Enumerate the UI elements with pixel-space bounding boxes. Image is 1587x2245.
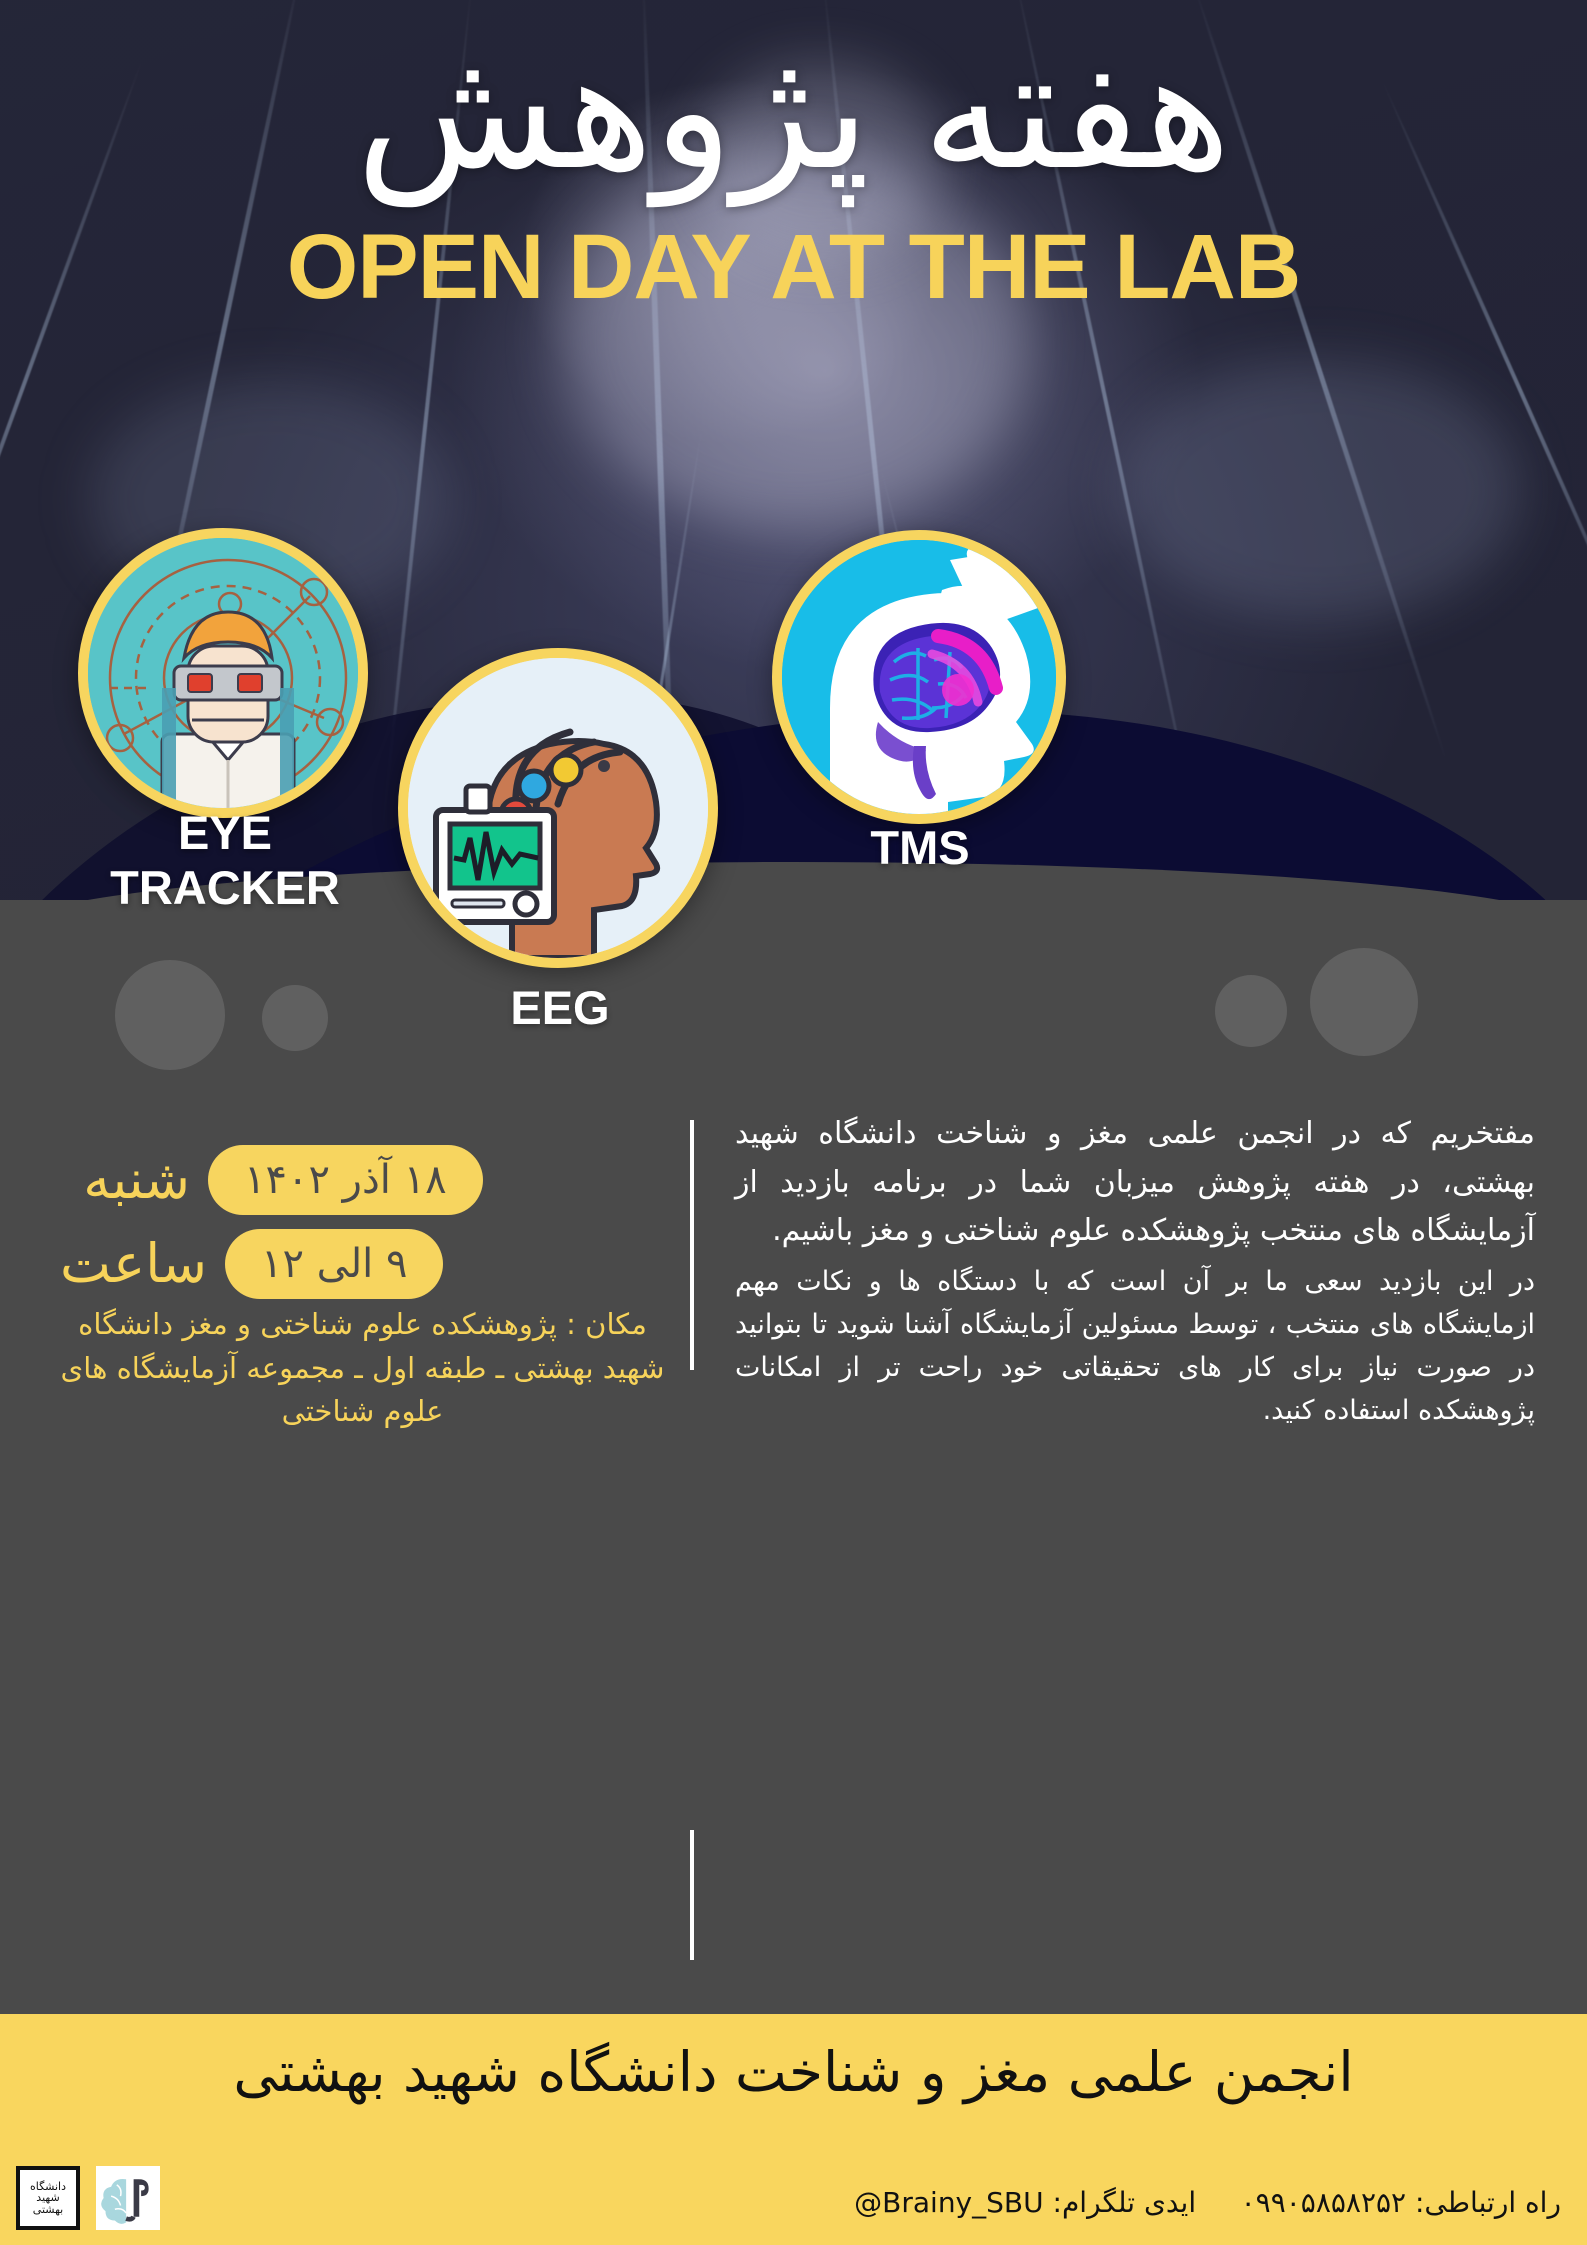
logo-brainy-sbu <box>96 2166 160 2230</box>
modality-circle-eye-tracker <box>78 528 368 818</box>
vertical-divider-top <box>690 1120 694 1370</box>
bokeh-circle <box>1215 975 1287 1047</box>
contact-phone: ۰۹۹۰۵۸۵۸۲۵۲ <box>1241 2186 1406 2219</box>
contact-label: راه ارتباطی: <box>1415 2186 1561 2219</box>
schedule-place: مکان : پژوهشکده علوم شناختی و مغز دانشگا… <box>55 1303 670 1434</box>
modality-circle-eeg <box>398 648 718 968</box>
telegram-handle[interactable]: @Brainy_SBU <box>854 2186 1043 2219</box>
modality-label-tms: TMS <box>770 820 1070 875</box>
schedule-row-date: شنبه ۱۸ آذر ۱۴۰۲ <box>60 1145 670 1215</box>
page-title-english: OPEN DAY AT THE LAB <box>0 215 1587 320</box>
body-paragraph-2: در این بازدید سعی ما بر آن است که با دست… <box>735 1260 1535 1433</box>
logo-sbu-text: دانشگاه شهید بهشتی <box>20 2181 76 2216</box>
schedule-date-pill: ۱۸ آذر ۱۴۰۲ <box>208 1145 483 1215</box>
vertical-divider-bottom <box>690 1830 694 1960</box>
body-text-block: مفتخریم که در انجمن علمی مغز و شناخت دان… <box>735 1110 1535 1433</box>
page-title-persian: هفته پژوهش <box>0 24 1587 197</box>
bokeh-circle <box>115 960 225 1070</box>
modality-label-eeg: EEG <box>400 980 720 1035</box>
footer-organization: انجمن علمی مغز و شناخت دانشگاه شهید بهشت… <box>0 2040 1587 2104</box>
modality-circle-tms <box>772 530 1066 824</box>
schedule-row-time: ساعت ۹ الی ۱۲ <box>60 1229 670 1299</box>
bokeh-circle <box>262 985 328 1051</box>
modality-label-eye-tracker: EYE TRACKER <box>60 805 390 915</box>
body-paragraph-1: مفتخریم که در انجمن علمی مغز و شناخت دان… <box>735 1110 1535 1256</box>
brain-logo-icon <box>98 2168 158 2228</box>
bokeh-circle <box>1310 948 1418 1056</box>
schedule-time-label: ساعت <box>60 1237 207 1291</box>
footer-contact-line: راه ارتباطی: ۰۹۹۰۵۸۵۸۲۵۲ ایدی تلگرام: @B… <box>854 2186 1561 2219</box>
schedule-block: شنبه ۱۸ آذر ۱۴۰۲ ساعت ۹ الی ۱۲ <box>60 1145 670 1313</box>
schedule-day-label: شنبه <box>60 1153 190 1207</box>
logo-shahid-beheshti-university: دانشگاه شهید بهشتی <box>16 2166 80 2230</box>
telegram-label: ایدی تلگرام: <box>1053 2186 1197 2219</box>
schedule-time-pill: ۹ الی ۱۲ <box>225 1229 444 1299</box>
poster-root: هفته پژوهش OPEN DAY AT THE LAB <box>0 0 1587 2245</box>
